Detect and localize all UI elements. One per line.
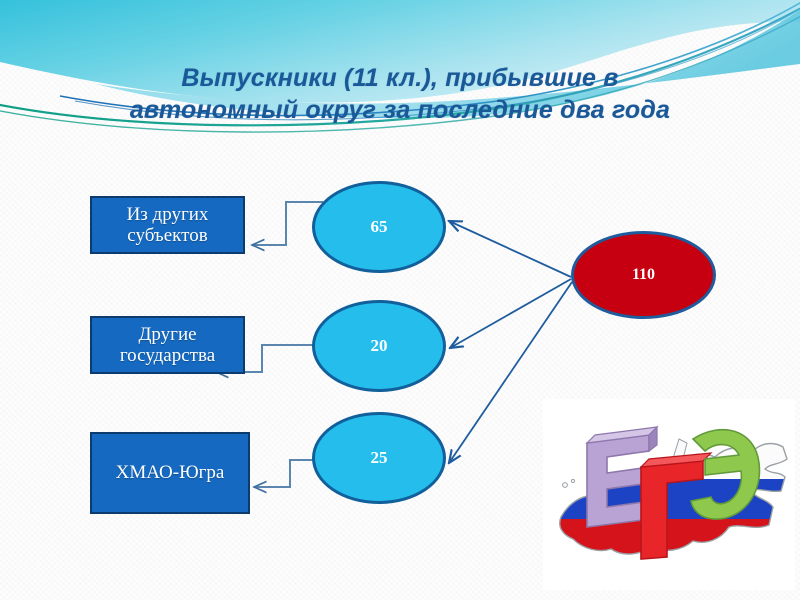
- circle-count-20[interactable]: 20: [312, 300, 446, 392]
- slide-title: Выпускники (11 кл.), прибывшие в автоном…: [60, 62, 740, 126]
- title-line-2: автономный округ за последние два года: [60, 94, 740, 126]
- box-other-subjects-label: Из других субъектов: [92, 204, 243, 247]
- connector-total-to-65: [449, 221, 571, 277]
- circle-count-65[interactable]: 65: [312, 181, 446, 273]
- title-line-1: Выпускники (11 кл.), прибывшие в: [60, 62, 740, 94]
- circle-count-25[interactable]: 25: [312, 412, 446, 504]
- circle-total-value: 110: [632, 266, 655, 284]
- box-khmao-label: ХМАО-Югра: [116, 462, 225, 483]
- ege-russia-logo: [543, 399, 795, 590]
- circle-total-110[interactable]: 110: [571, 231, 716, 319]
- ege-logo-graphic: [543, 399, 795, 590]
- connector-25-to-box: [254, 460, 318, 487]
- box-other-states-label: Другие государства: [92, 324, 243, 367]
- box-other-states[interactable]: Другие государства: [90, 316, 245, 374]
- box-khmao[interactable]: ХМАО-Югра: [90, 432, 250, 514]
- presentation-slide: Выпускники (11 кл.), прибывшие в автоном…: [0, 0, 800, 600]
- circle-65-value: 65: [371, 217, 388, 237]
- circle-20-value: 20: [371, 336, 388, 356]
- box-other-subjects[interactable]: Из других субъектов: [90, 196, 245, 254]
- connector-total-to-20: [450, 279, 571, 348]
- circle-25-value: 25: [371, 448, 388, 468]
